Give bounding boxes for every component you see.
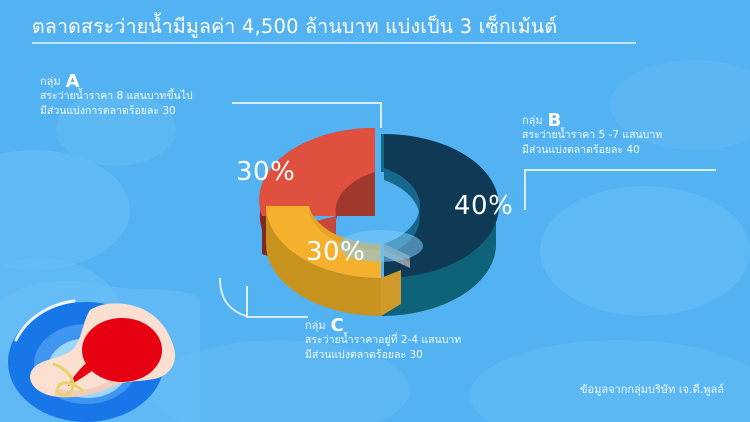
segment-a-heading: กลุ่มA xyxy=(40,74,193,89)
background-blob-3 xyxy=(540,186,750,316)
title-block: ตลาดสระว่ายน้ำมีมูลค่า 4,500 ล้านบาท แบ่… xyxy=(32,14,722,44)
segment-c-line1: สระว่ายน้ำราคาอยู่ที่ 2-4 แสนบาท xyxy=(305,333,461,348)
page-title: ตลาดสระว่ายน้ำมีมูลค่า 4,500 ล้านบาท แบ่… xyxy=(32,14,722,40)
slice-a-percent: 30% xyxy=(236,157,295,187)
slice-c-percent: 30% xyxy=(306,237,365,267)
title-underline xyxy=(32,42,636,44)
segment-c-line2: มีส่วนแบ่งตลาดร้อยละ 30 xyxy=(305,348,461,363)
segment-a-line2: มีส่วนแบ่งการตลาดร้อยละ 30 xyxy=(40,104,193,119)
footer-credit: ข้อมูลจากกลุ่มบริษัท เจ.ดี.พูลล์ xyxy=(580,380,724,398)
pool-balloon-illustration xyxy=(0,276,204,422)
infographic-canvas: ตลาดสระว่ายน้ำมีมูลค่า 4,500 ล้านบาท แบ่… xyxy=(0,0,750,422)
background-blob-1 xyxy=(0,150,130,270)
segment-a-group-word: กลุ่ม xyxy=(40,75,61,88)
donut-chart-3d: 30% 40% 30% xyxy=(196,104,566,334)
water-balloon xyxy=(82,318,162,382)
slice-b-percent: 40% xyxy=(454,191,513,221)
segment-a-line1: สระว่ายน้ำราคา 8 แสนบาทขึ้นไป xyxy=(40,89,193,104)
segment-label-a: กลุ่มA สระว่ายน้ำราคา 8 แสนบาทขึ้นไป มีส… xyxy=(40,74,193,119)
